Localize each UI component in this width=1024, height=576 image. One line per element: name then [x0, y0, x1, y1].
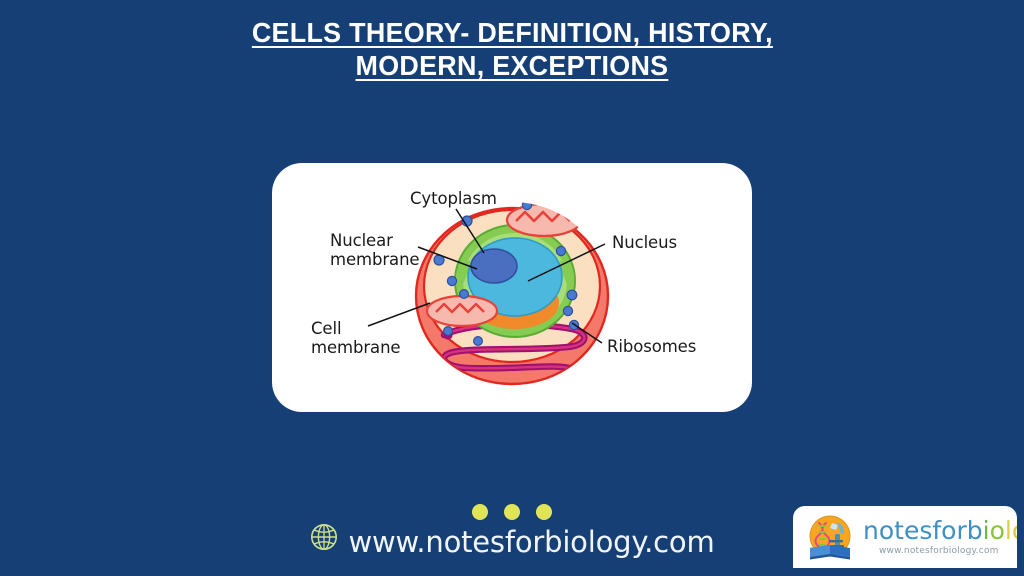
dot-2	[504, 504, 520, 520]
nucleolus-shape	[471, 249, 517, 283]
label-ribosomes: Ribosomes	[607, 337, 696, 356]
er-end-vesicle	[558, 385, 570, 397]
logo-wordmark-segment-3: o	[990, 516, 1005, 545]
mitochondrion-left	[427, 296, 497, 326]
logo-wordmark-segment-0: notesfor	[863, 516, 967, 545]
microscope-dna-book-icon	[803, 514, 857, 562]
logo-wordmark-segment-4: l	[1005, 516, 1012, 545]
page-title: CELLS THEORY- DEFINITION, HISTORY, MODER…	[0, 16, 1024, 82]
logo-badge[interactable]: notesforbiology www.notesforbiology.com	[793, 506, 1017, 568]
label-nucleus: Nucleus	[612, 233, 677, 252]
logo-wordmark-segment-2: i	[983, 516, 990, 545]
animal-cell-illustration	[272, 163, 752, 412]
book-glyph	[810, 545, 850, 560]
logo-subtitle: www.notesforbiology.com	[879, 546, 999, 556]
logo-wordmark-segment-5: o	[1012, 516, 1017, 545]
mitochondrion-top	[507, 204, 581, 236]
page-title-line-1: CELLS THEORY- DEFINITION, HISTORY,	[251, 16, 772, 49]
dot-1	[472, 504, 488, 520]
logo-wordmark: notesforbiology	[863, 518, 1017, 544]
label-nuclear-membrane: Nuclear membrane	[330, 231, 419, 269]
diagram-card: Cytoplasm Nuclear membrane Cell membrane…	[272, 163, 752, 412]
label-cell-membrane: Cell membrane	[311, 319, 400, 357]
label-cytoplasm: Cytoplasm	[410, 189, 497, 208]
page-title-line-2: MODERN, EXCEPTIONS	[356, 49, 669, 82]
logo-wordmark-segment-1: b	[967, 516, 983, 545]
dot-3	[536, 504, 552, 520]
site-url[interactable]: www.notesforbiology.com	[348, 525, 714, 559]
slide-canvas: CELLS THEORY- DEFINITION, HISTORY, MODER…	[0, 0, 1024, 576]
globe-icon	[309, 522, 339, 557]
